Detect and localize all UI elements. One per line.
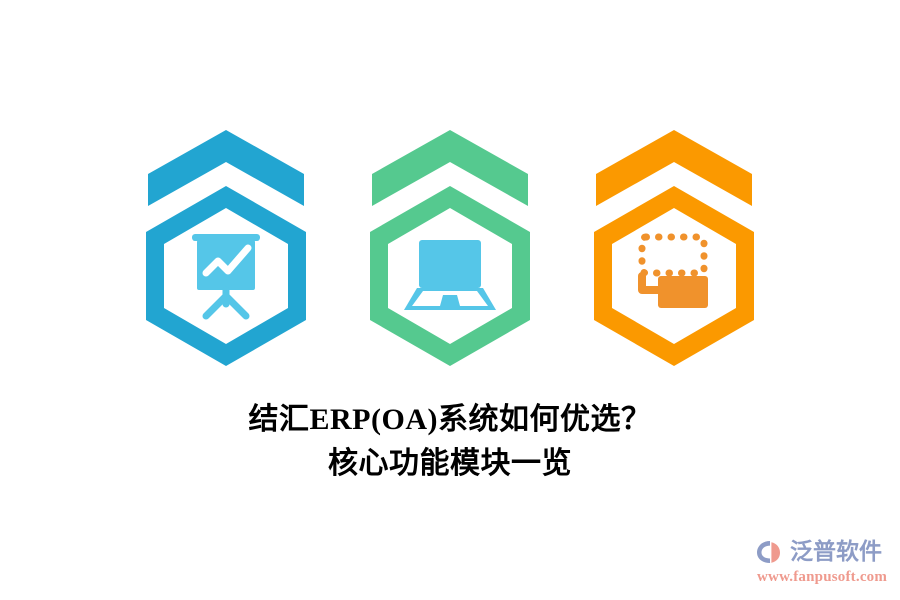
brand-lockup: 泛普软件 (756, 536, 882, 568)
brand-url: www.fanpusoft.com (757, 568, 887, 586)
select-move-layer-icon (642, 237, 708, 308)
headline: 结汇ERP(OA)系统如何优选？ 核心功能模块一览 (0, 398, 900, 486)
badge-analytics-graphic (136, 124, 316, 364)
laptop-icon (404, 240, 496, 310)
badge-laptop[interactable] (360, 124, 540, 364)
badge-row (0, 124, 900, 364)
headline-line-1: 结汇ERP(OA)系统如何优选？ (0, 398, 900, 442)
badge-laptop-graphic (360, 124, 540, 364)
fanpu-arc-logo-icon (756, 538, 786, 566)
brand-name: 泛普软件 (790, 539, 882, 565)
headline-line-2: 核心功能模块一览 (0, 442, 900, 486)
brand-watermark[interactable]: 泛普软件 www.fanpusoft.com (756, 528, 888, 586)
badge-module[interactable] (584, 124, 764, 364)
badge-module-graphic (584, 124, 764, 364)
badge-analytics[interactable] (136, 124, 316, 364)
poster-canvas: 结汇ERP(OA)系统如何优选？ 核心功能模块一览 泛普软件 www.fanpu… (0, 0, 900, 600)
presentation-chart-icon (192, 234, 260, 316)
